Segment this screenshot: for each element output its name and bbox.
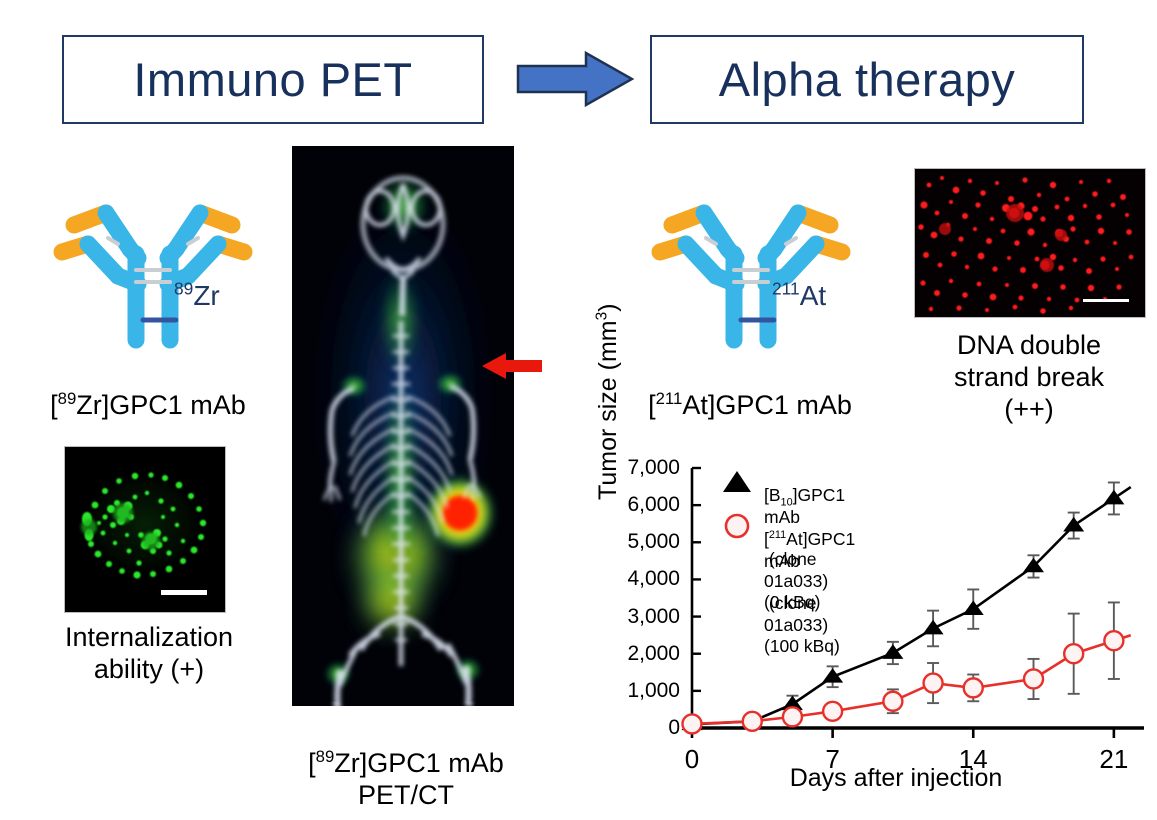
- scale-bar: [161, 590, 207, 595]
- chart-plot-area: [596, 452, 1152, 804]
- confocal-fluorescence-cell-image: [64, 446, 226, 613]
- alpha-therapy-title: Alpha therapy: [719, 56, 1016, 103]
- right-arrow-icon: [516, 50, 634, 108]
- at211-antibody-caption: [211At]GPC1 mAb: [600, 358, 900, 422]
- immuno-pet-title-box: Immuno PET: [62, 35, 484, 124]
- internalization-caption: Internalization ability (+): [4, 622, 294, 686]
- pet-ct-mouse-mip-image: [292, 146, 514, 706]
- scale-bar: [1083, 299, 1129, 302]
- zr89-isotope-tag: 89Zr: [174, 280, 220, 312]
- tumor-growth-chart: Tumor size (mm3) Days after injection 01…: [596, 452, 1152, 804]
- at211-antibody-icon: 211At: [646, 192, 856, 357]
- zr89-antibody-icon: 89Zr: [48, 192, 258, 357]
- red-arrow-icon: [480, 352, 544, 380]
- dna-damage-caption: DNA double strand break (++): [890, 330, 1157, 426]
- at211-isotope-tag: 211At: [772, 280, 826, 312]
- zr89-antibody-caption: [89Zr]GPC1 mAb: [6, 358, 290, 422]
- petct-caption: [89Zr]GPC1 mAbPET/CT: [256, 716, 556, 812]
- gamma-h2ax-foci-image: [914, 168, 1146, 318]
- immuno-pet-title: Immuno PET: [133, 56, 412, 103]
- alpha-therapy-title-box: Alpha therapy: [650, 35, 1084, 124]
